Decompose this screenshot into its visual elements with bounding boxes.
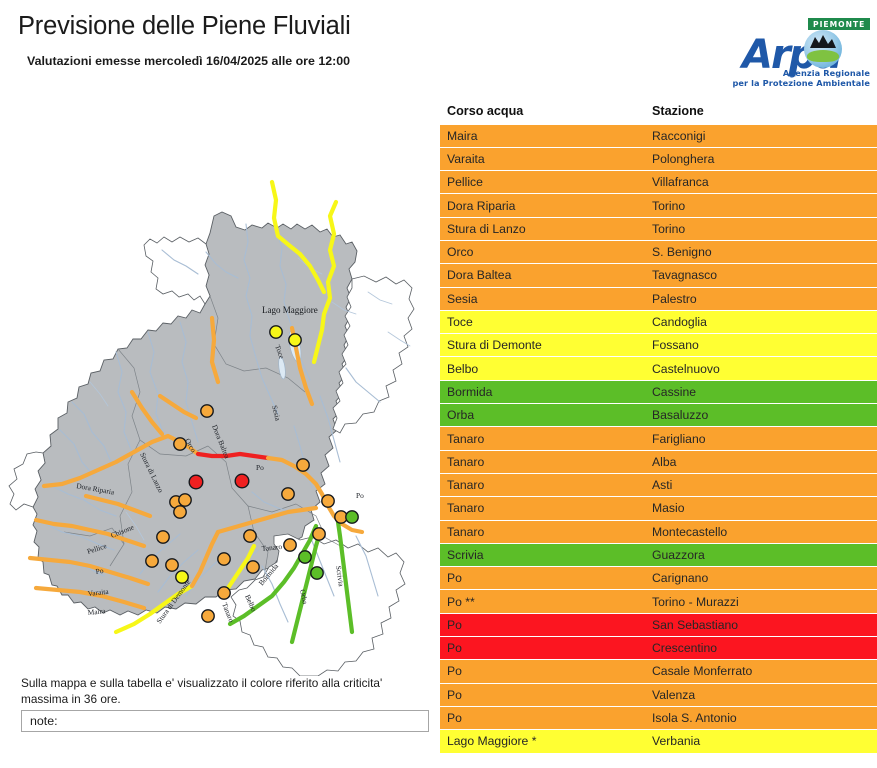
table-row[interactable]: Lago Maggiore *Verbania [440,730,877,753]
cell-corso-acqua: Orco [440,240,645,263]
marker-basaluzzo [311,567,323,579]
table-row[interactable]: PoCasale Monferrato [440,660,877,683]
issue-timestamp: Valutazioni emesse mercoledì 16/04/2025 … [27,54,350,68]
cell-corso-acqua: Po ** [440,590,645,613]
cell-corso-acqua: Tanaro [440,497,645,520]
cell-stazione: Fossano [645,334,877,357]
marker-casale-monferrato [282,488,294,500]
cell-stazione: Torino - Murazzi [645,590,877,613]
table-row[interactable]: Po **Torino - Murazzi [440,590,877,613]
cell-corso-acqua: Sesia [440,287,645,310]
marker-alba [218,553,230,565]
marker-crescentino [235,474,249,488]
table-row[interactable]: SesiaPalestro [440,287,877,310]
marker-torino-murazzi [174,506,186,518]
table-row[interactable]: BormidaCassine [440,380,877,403]
cell-corso-acqua: Orba [440,404,645,427]
table-row[interactable]: Stura di DemonteFossano [440,334,877,357]
forecast-table-body: MairaRacconigiVaraitaPolongheraPelliceVi… [440,124,877,753]
river-po-lower-orange [342,524,362,532]
marker-masio [284,539,296,551]
label-po-center: Po [256,463,264,472]
cell-corso-acqua: Toce [440,310,645,333]
forecast-page: Previsione delle Piene Fluviali Valutazi… [0,0,877,768]
cell-stazione: S. Benigno [645,240,877,263]
table-row[interactable]: OrbaBasaluzzo [440,404,877,427]
marker-tavagnasco [201,405,213,417]
logo-tagline-1: Agenzia Regionale [783,68,870,78]
marker-cassine [299,551,311,563]
cell-corso-acqua: Po [440,613,645,636]
cell-corso-acqua: Stura di Lanzo [440,217,645,240]
cell-stazione: San Sebastiano [645,613,877,636]
cell-stazione: Carignano [645,567,877,590]
cell-corso-acqua: Dora Riparia [440,194,645,217]
cell-stazione: Palestro [645,287,877,310]
arpa-piemonte-logo: Arpa PIEMONTE Agenzia Regionale per la P… [742,18,870,90]
legend-note: Sulla mappa e sulla tabella e' visualizz… [21,676,431,708]
page-header: Previsione delle Piene Fluviali Valutazi… [0,0,877,96]
logo-tagline-2: per la Protezione Ambientale [732,78,870,88]
cell-corso-acqua: Tanaro [440,450,645,473]
forecast-table: Corso acqua Stazione MairaRacconigiVarai… [440,100,877,754]
marker-polonghera [166,559,178,571]
label-po-east: Po [356,491,364,500]
marker-torino-dora-riparia [179,494,191,506]
table-row[interactable]: PoCrescentino [440,637,877,660]
column-header-stazione: Stazione [645,100,877,124]
marker-montecastello [313,528,325,540]
marker-valenza [322,495,334,507]
table-row[interactable]: PoSan Sebastiano [440,613,877,636]
table-row[interactable]: PoValenza [440,683,877,706]
note-input[interactable] [21,710,429,732]
table-header-row: Corso acqua Stazione [440,100,877,124]
cell-corso-acqua: Po [440,706,645,729]
cell-corso-acqua: Bormida [440,380,645,403]
cell-stazione: Tavagnasco [645,264,877,287]
marker-racconigi [202,610,214,622]
cell-corso-acqua: Belbo [440,357,645,380]
marker-palestro [297,459,309,471]
marker-farigliano [218,587,230,599]
table-row[interactable]: ScriviaGuazzora [440,543,877,566]
cell-corso-acqua: Tanaro [440,520,645,543]
cell-corso-acqua: Stura di Demonte [440,334,645,357]
marker-carignano [157,531,169,543]
cell-stazione: Crescentino [645,637,877,660]
cell-corso-acqua: Lago Maggiore * [440,730,645,753]
table-row[interactable]: PoCarignano [440,567,877,590]
cell-corso-acqua: Maira [440,124,645,147]
cell-stazione: Masio [645,497,877,520]
marker-villafranca [146,555,158,567]
cell-stazione: Valenza [645,683,877,706]
cell-stazione: Guazzora [645,543,877,566]
table-row[interactable]: BelboCastelnuovo [440,357,877,380]
cell-corso-acqua: Po [440,637,645,660]
logo-region-banner: PIEMONTE [808,18,870,30]
cell-stazione: Racconigi [645,124,877,147]
table-row[interactable]: TanaroAlba [440,450,877,473]
cell-corso-acqua: Tanaro [440,473,645,496]
marker-verbania [270,326,282,338]
cell-corso-acqua: Tanaro [440,427,645,450]
mountain-peaks-icon [808,32,838,49]
table-row[interactable]: TanaroAsti [440,473,877,496]
label-tanaro-upper: Tanaro [220,601,236,624]
cell-stazione: Candoglia [645,310,877,333]
cell-stazione: Villafranca [645,171,877,194]
table-row[interactable]: TanaroMontecastello [440,520,877,543]
cell-stazione: Basaluzzo [645,404,877,427]
cell-stazione: Alba [645,450,877,473]
table-row[interactable]: TanaroFarigliano [440,427,877,450]
column-header-corso-acqua: Corso acqua [440,100,645,124]
marker-guazzora [346,511,358,523]
cell-corso-acqua: Varaita [440,147,645,170]
marker-asti [244,530,256,542]
cell-corso-acqua: Scrivia [440,543,645,566]
cell-stazione: Isola S. Antonio [645,706,877,729]
marker-san-sebastiano [189,475,203,489]
page-title: Previsione delle Piene Fluviali [18,12,351,41]
cell-corso-acqua: Po [440,567,645,590]
table-row[interactable]: TanaroMasio [440,497,877,520]
cell-stazione: Castelnuovo [645,357,877,380]
label-po-west: Po [95,566,104,576]
cell-stazione: Verbania [645,730,877,753]
table-row[interactable]: Dora RipariaTorino [440,194,877,217]
table-row[interactable]: Dora BalteaTavagnasco [440,264,877,287]
cell-stazione: Torino [645,194,877,217]
cell-stazione: Polonghera [645,147,877,170]
cell-corso-acqua: Po [440,683,645,706]
cell-corso-acqua: Pellice [440,171,645,194]
table-row[interactable]: VaraitaPolonghera [440,147,877,170]
cell-stazione: Montecastello [645,520,877,543]
label-lago-maggiore: Lago Maggiore [262,305,318,315]
cell-stazione: Torino [645,217,877,240]
table-row[interactable]: MairaRacconigi [440,124,877,147]
cell-stazione: Farigliano [645,427,877,450]
table-row[interactable]: PoIsola S. Antonio [440,706,877,729]
piemonte-flood-map[interactable]: Lago Maggiore Toce Sesia Dora Baltea Orc… [0,96,437,676]
map-svg: Lago Maggiore Toce Sesia Dora Baltea Orc… [0,96,437,676]
cell-stazione: Asti [645,473,877,496]
cell-corso-acqua: Po [440,660,645,683]
table-row[interactable]: ToceCandoglia [440,310,877,333]
table-row[interactable]: Stura di LanzoTorino [440,217,877,240]
table-row[interactable]: OrcoS. Benigno [440,240,877,263]
cell-stazione: Cassine [645,380,877,403]
cell-stazione: Casale Monferrato [645,660,877,683]
label-maira: Maira [87,606,106,617]
table-row[interactable]: PelliceVillafranca [440,171,877,194]
marker-candoglia [289,334,301,346]
marker-castelnuovo [247,561,259,573]
cell-corso-acqua: Dora Baltea [440,264,645,287]
